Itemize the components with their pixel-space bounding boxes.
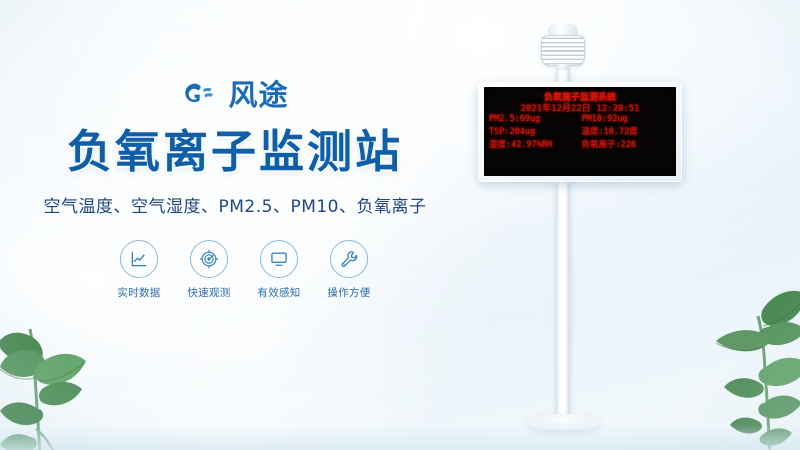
- sensor-louver-plates: [541, 35, 585, 66]
- led-reading-tsp: TSP:204ug: [489, 127, 580, 137]
- copy-block: 风途 负氧离子监测站 空气温度、空气湿度、PM2.5、PM10、负氧离子 实时数…: [0, 74, 470, 300]
- pole-base-plate: [528, 414, 600, 430]
- radiation-shield-sensor: [534, 24, 592, 76]
- monstera-leaves-left: [0, 289, 144, 450]
- led-datetime: 2021年12月22日 12:20:51: [484, 101, 676, 114]
- line-chart-icon: [129, 249, 149, 269]
- brand-logo: 风途: [0, 74, 470, 116]
- brand-wordmark: 风途: [228, 81, 288, 110]
- product-banner: 风途 负氧离子监测站 空气温度、空气湿度、PM2.5、PM10、负氧离子 实时数…: [0, 0, 800, 450]
- feature-item-easy-operation: 操作方便: [324, 240, 374, 300]
- led-reading-humidity: 湿度:42.97%RH: [489, 140, 580, 150]
- wrench-icon: [339, 249, 359, 269]
- feature-label: 实时数据: [114, 285, 164, 300]
- feature-label: 操作方便: [324, 285, 374, 300]
- radar-observation-icon: [199, 249, 219, 269]
- page-title: 负氧离子监测站: [0, 128, 470, 177]
- feature-icon-circle: [120, 240, 158, 278]
- feature-icon-circle: [260, 240, 298, 278]
- subtitle: 空气温度、空气湿度、PM2.5、PM10、负氧离子: [0, 196, 470, 218]
- led-reading-temperature: 温度:10.72度: [582, 127, 673, 137]
- feature-label: 快速观测: [184, 285, 234, 300]
- led-reading-negative-oxygen-ions: 负氧离子:226: [582, 140, 673, 150]
- led-reading-pm25: PM2.5:69ug: [489, 114, 580, 124]
- feature-item-realtime-data: 实时数据: [114, 240, 164, 300]
- feature-item-effective-sensing: 有效感知: [254, 240, 304, 300]
- led-display-frame: 负氧离子监测系统 2021年12月22日 12:20:51 PM2.5:69ug…: [478, 82, 682, 182]
- feature-icon-circle: [330, 240, 368, 278]
- feature-icon-circle: [190, 240, 228, 278]
- led-readings-grid: PM2.5:69ug PM10:92ug TSP:204ug 温度:10.72度…: [489, 114, 672, 150]
- monitoring-station: 负氧离子监测系统 2021年12月22日 12:20:51 PM2.5:69ug…: [440, 0, 800, 450]
- led-display-screen: 负氧离子监测系统 2021年12月22日 12:20:51 PM2.5:69ug…: [484, 87, 676, 176]
- led-reading-pm10: PM10:92ug: [582, 114, 673, 124]
- gf-leaf-logo-icon: [181, 81, 221, 109]
- feature-list: 实时数据 快速观测: [0, 240, 470, 300]
- feature-item-fast-observation: 快速观测: [184, 240, 234, 300]
- monitor-display-icon: [269, 249, 289, 269]
- feature-label: 有效感知: [254, 285, 304, 300]
